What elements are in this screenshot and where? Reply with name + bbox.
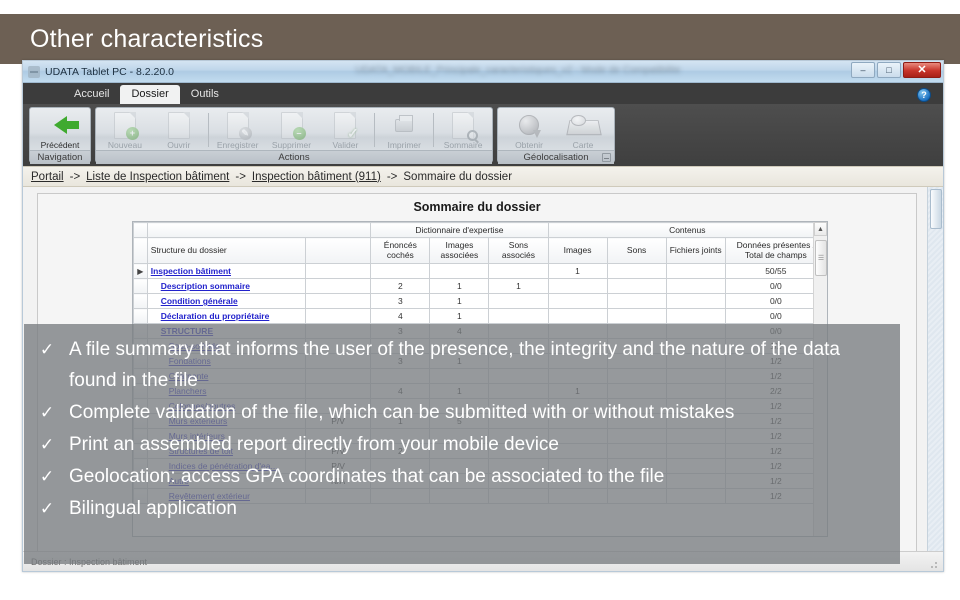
page-title: Other characteristics bbox=[0, 25, 263, 54]
window-scrollbar-thumb[interactable] bbox=[930, 189, 942, 229]
breadcrumb-item-liste-inspection[interactable]: Liste de Inspection bâtiment bbox=[86, 171, 229, 183]
row-cell-3: 1 bbox=[489, 279, 548, 294]
precedent-button[interactable]: Précédent bbox=[32, 110, 88, 150]
tab-outils[interactable]: Outils bbox=[180, 85, 230, 104]
delete-document-icon: – bbox=[281, 112, 303, 138]
breadcrumb-separator: -> bbox=[70, 171, 81, 183]
row-cell-3 bbox=[489, 294, 548, 309]
ribbon-group-actions: + Nouveau Ouvrir ✎ bbox=[95, 107, 493, 163]
checkmark-icon: ✓ bbox=[38, 461, 56, 492]
bullet-text: A file summary that informs the user of … bbox=[69, 334, 886, 396]
window-title: UDATA Tablet PC - 8.2.20.0 bbox=[45, 66, 174, 78]
group-header-contenus: Contenus bbox=[548, 223, 826, 238]
ribbon-separator bbox=[374, 113, 375, 147]
col-header-enonces[interactable]: Énoncés cochés bbox=[371, 238, 430, 264]
obtenir-label: Obtenir bbox=[515, 140, 543, 150]
row-cell-2: 1 bbox=[430, 279, 489, 294]
breadcrumb-separator: -> bbox=[235, 171, 246, 183]
ouvrir-label: Ouvrir bbox=[167, 140, 190, 150]
bullet-text: Print an assembled report directly from … bbox=[69, 429, 559, 460]
col-header-structure[interactable]: Structure du dossier bbox=[147, 238, 305, 264]
table-row[interactable]: Déclaration du propriétaire410/0 bbox=[134, 309, 827, 324]
bullet-item: ✓Bilingual application bbox=[38, 493, 886, 524]
breadcrumb-item-portail[interactable]: Portail bbox=[31, 171, 64, 183]
col-header-sons[interactable]: Sons bbox=[607, 238, 666, 264]
row-cell-4 bbox=[548, 279, 607, 294]
col-header-fichiers-joints[interactable]: Fichiers joints bbox=[666, 238, 725, 264]
ribbon-separator bbox=[208, 113, 209, 147]
scroll-up-arrow-icon[interactable]: ▲ bbox=[814, 222, 827, 236]
row-cell-7: 0/0 bbox=[725, 279, 826, 294]
row-cell-1: 4 bbox=[371, 309, 430, 324]
tab-dossier[interactable]: Dossier bbox=[120, 85, 179, 104]
status-bar-right bbox=[927, 558, 939, 570]
supprimer-button[interactable]: – Supprimer bbox=[265, 110, 319, 150]
row-cell-4 bbox=[548, 309, 607, 324]
supprimer-label: Supprimer bbox=[272, 140, 311, 150]
ribbon-group-navigation: Précédent Navigation bbox=[29, 107, 91, 163]
bullet-overlay-panel: ✓A file summary that informs the user of… bbox=[24, 324, 900, 564]
ribbon-group-geolocalisation: Obtenir Carte Géolocalisation bbox=[497, 107, 615, 163]
help-button[interactable]: ? bbox=[917, 88, 931, 102]
nouveau-label: Nouveau bbox=[108, 140, 142, 150]
ribbon-separator bbox=[433, 113, 434, 147]
minimize-button[interactable]: – bbox=[851, 62, 875, 78]
ouvrir-button[interactable]: Ouvrir bbox=[152, 110, 206, 150]
row-cell-2 bbox=[430, 264, 489, 279]
checkmark-icon: ✓ bbox=[38, 429, 56, 460]
bullet-text: Bilingual application bbox=[69, 493, 237, 524]
summary-document-icon bbox=[452, 112, 474, 138]
ribbon-body: Précédent Navigation + Nouveau bbox=[23, 104, 943, 166]
row-name-cell[interactable]: Déclaration du propriétaire bbox=[147, 309, 305, 324]
row-cell-2: 1 bbox=[430, 294, 489, 309]
valider-label: Valider bbox=[332, 140, 358, 150]
print-icon bbox=[395, 112, 413, 138]
row-name-cell[interactable]: Description sommaire bbox=[147, 279, 305, 294]
tab-accueil[interactable]: Accueil bbox=[63, 85, 120, 104]
new-document-icon: + bbox=[114, 112, 136, 138]
row-cell-3 bbox=[489, 264, 548, 279]
globe-pin-icon bbox=[519, 112, 539, 138]
row-cell-1 bbox=[371, 264, 430, 279]
table-row[interactable]: Description sommaire2110/0 bbox=[134, 279, 827, 294]
imprimer-label: Imprimer bbox=[387, 140, 421, 150]
map-icon bbox=[568, 112, 598, 138]
help-circle-icon: ? bbox=[917, 88, 931, 102]
col-header-images[interactable]: Images bbox=[548, 238, 607, 264]
back-arrow-icon bbox=[54, 112, 67, 138]
enregistrer-label: Enregistrer bbox=[217, 140, 259, 150]
row-cell-0 bbox=[305, 294, 370, 309]
document-title: Sommaire du dossier bbox=[38, 194, 916, 221]
row-cell-5 bbox=[607, 279, 666, 294]
group-header-blank bbox=[134, 223, 148, 238]
sommaire-button[interactable]: Sommaire bbox=[436, 110, 490, 150]
window-controls: – □ ✕ bbox=[851, 62, 941, 78]
breadcrumb-item-inspection-911[interactable]: Inspection bâtiment (911) bbox=[252, 171, 381, 183]
maximize-button[interactable]: □ bbox=[877, 62, 901, 78]
row-cell-0 bbox=[305, 264, 370, 279]
row-name-link[interactable]: Condition générale bbox=[151, 296, 238, 306]
row-cell-7: 50/55 bbox=[725, 264, 826, 279]
precedent-label: Précédent bbox=[41, 140, 80, 150]
col-header-blank[interactable] bbox=[305, 238, 370, 264]
nouveau-button[interactable]: + Nouveau bbox=[98, 110, 152, 150]
breadcrumb-item-sommaire: Sommaire du dossier bbox=[403, 171, 512, 183]
col-header-rowmark bbox=[134, 238, 148, 264]
checkmark-icon: ✓ bbox=[38, 397, 56, 428]
col-header-donnees-presentes[interactable]: Données présentes / Total de champs bbox=[725, 238, 826, 264]
row-cell-4: 1 bbox=[548, 264, 607, 279]
row-cell-5 bbox=[607, 309, 666, 324]
row-cell-0 bbox=[305, 279, 370, 294]
row-marker: ▶ bbox=[134, 264, 148, 279]
breadcrumb: Portail -> Liste de Inspection bâtiment … bbox=[23, 166, 943, 187]
imprimer-button[interactable]: Imprimer bbox=[377, 110, 431, 150]
bullet-text: Geolocation: access GPA coordinates that… bbox=[69, 461, 664, 492]
scrollbar-thumb[interactable]: ☰ bbox=[815, 240, 827, 276]
ribbon-group-geolocalisation-title: Géolocalisation bbox=[498, 150, 614, 164]
row-name-cell[interactable]: Condition générale bbox=[147, 294, 305, 309]
window-title-blurred-text: UDATA_MOBILE_Principale_caracteristiques… bbox=[353, 65, 683, 77]
group-header-blank bbox=[147, 223, 371, 238]
row-cell-2: 1 bbox=[430, 309, 489, 324]
table-group-header-row: Dictionnaire d'expertise Contenus bbox=[134, 223, 827, 238]
col-header-images-associees[interactable]: Images associées bbox=[430, 238, 489, 264]
row-cell-0 bbox=[305, 309, 370, 324]
slide-root: Other characteristics UDATA Tablet PC - … bbox=[0, 0, 960, 600]
obtenir-button[interactable]: Obtenir bbox=[502, 110, 556, 150]
breadcrumb-separator: -> bbox=[387, 171, 398, 183]
row-cell-6 bbox=[666, 264, 725, 279]
window-titlebar: UDATA Tablet PC - 8.2.20.0 UDATA_MOBILE_… bbox=[23, 61, 943, 83]
app-logo-icon bbox=[28, 66, 40, 78]
row-cell-7: 0/0 bbox=[725, 294, 826, 309]
bullet-item: ✓A file summary that informs the user of… bbox=[38, 334, 886, 396]
bullet-text: Complete validation of the file, which c… bbox=[69, 397, 734, 428]
row-cell-6 bbox=[666, 294, 725, 309]
bullet-list: ✓A file summary that informs the user of… bbox=[24, 324, 900, 524]
bullet-item: ✓Geolocation: access GPA coordinates tha… bbox=[38, 461, 886, 492]
carte-button[interactable]: Carte bbox=[556, 110, 610, 150]
resize-grip-icon[interactable] bbox=[927, 558, 939, 570]
row-cell-6 bbox=[666, 309, 725, 324]
checkmark-icon: ✓ bbox=[38, 493, 56, 524]
window-vertical-scrollbar[interactable] bbox=[927, 187, 943, 572]
table-row[interactable]: Condition générale310/0 bbox=[134, 294, 827, 309]
close-button[interactable]: ✕ bbox=[903, 62, 941, 78]
slide-header-band: Other characteristics bbox=[0, 14, 960, 64]
row-cell-1: 2 bbox=[371, 279, 430, 294]
bullet-item: ✓Complete validation of the file, which … bbox=[38, 397, 886, 428]
enregistrer-button[interactable]: ✎ Enregistrer bbox=[211, 110, 265, 150]
table-row[interactable]: ▶Inspection bâtiment150/55 bbox=[134, 264, 827, 279]
carte-label: Carte bbox=[573, 140, 594, 150]
row-marker bbox=[134, 309, 148, 324]
row-marker bbox=[134, 279, 148, 294]
row-cell-1: 3 bbox=[371, 294, 430, 309]
checkmark-icon: ✓ bbox=[38, 334, 56, 365]
group-header-dictionnaire: Dictionnaire d'expertise bbox=[371, 223, 548, 238]
row-name-link[interactable]: Description sommaire bbox=[151, 281, 250, 291]
ribbon-group-navigation-title: Navigation bbox=[30, 150, 90, 164]
row-cell-7: 0/0 bbox=[725, 309, 826, 324]
table-head: Dictionnaire d'expertise Contenus Struct… bbox=[134, 223, 827, 264]
open-document-icon bbox=[168, 112, 190, 138]
row-cell-6 bbox=[666, 279, 725, 294]
row-name-cell[interactable]: Inspection bâtiment bbox=[147, 264, 305, 279]
row-cell-3 bbox=[489, 309, 548, 324]
row-name-link[interactable]: Déclaration du propriétaire bbox=[151, 311, 270, 321]
row-name-link[interactable]: Inspection bâtiment bbox=[151, 266, 231, 276]
valider-button[interactable]: ✓ Valider bbox=[318, 110, 372, 150]
table-column-header-row: Structure du dossier Énoncés cochés Imag… bbox=[134, 238, 827, 264]
dialog-launcher-icon[interactable] bbox=[602, 153, 611, 162]
row-marker bbox=[134, 294, 148, 309]
ribbon-tab-strip: Accueil Dossier Outils ? bbox=[23, 83, 943, 104]
save-document-icon: ✎ bbox=[227, 112, 249, 138]
bullet-item: ✓Print an assembled report directly from… bbox=[38, 429, 886, 460]
validate-document-icon: ✓ bbox=[334, 112, 356, 138]
row-cell-5 bbox=[607, 264, 666, 279]
row-cell-5 bbox=[607, 294, 666, 309]
col-header-sons-associes[interactable]: Sons associés bbox=[489, 238, 548, 264]
row-cell-4 bbox=[548, 294, 607, 309]
ribbon-group-actions-title: Actions bbox=[96, 150, 492, 164]
